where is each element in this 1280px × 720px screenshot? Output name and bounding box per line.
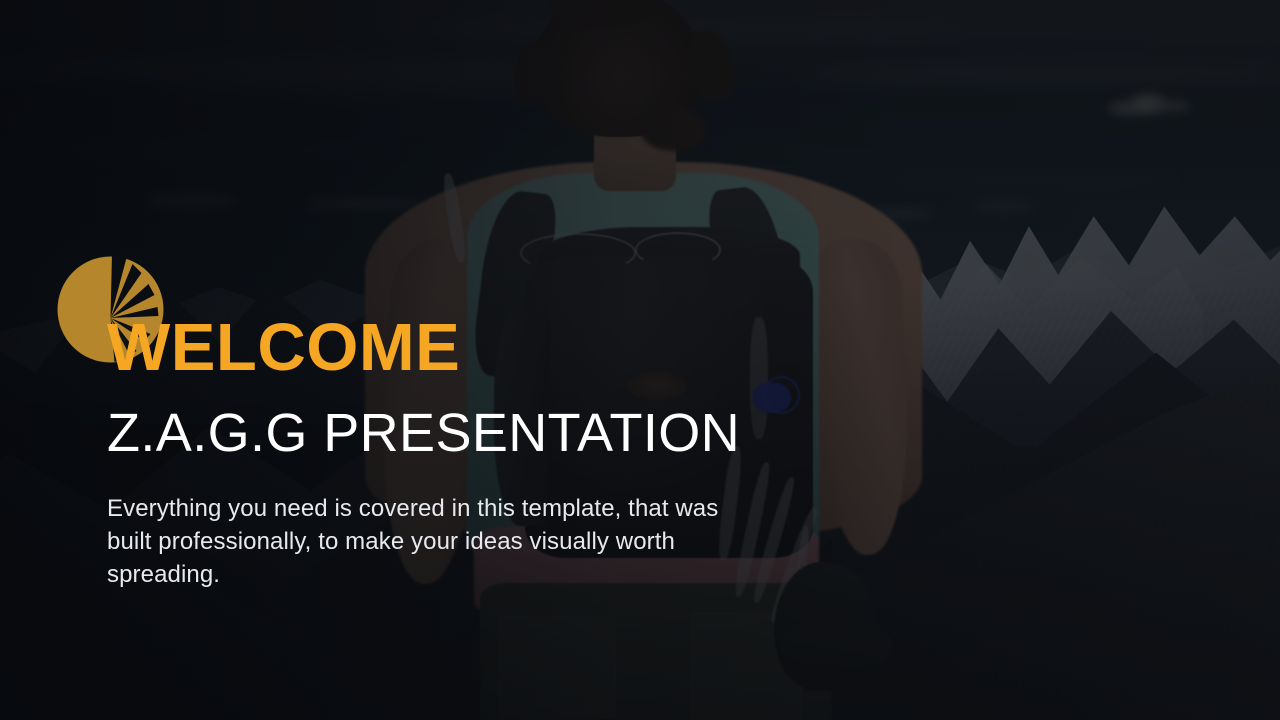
- slide-body-text: Everything you need is covered in this t…: [107, 492, 722, 591]
- page-title: WELCOME: [107, 314, 460, 381]
- slide-subtitle: Z.A.G.G PRESENTATION: [107, 405, 740, 462]
- presentation-slide: WELCOME Z.A.G.G PRESENTATION Everything …: [0, 0, 1280, 720]
- slide-content: WELCOME Z.A.G.G PRESENTATION Everything …: [0, 0, 1280, 720]
